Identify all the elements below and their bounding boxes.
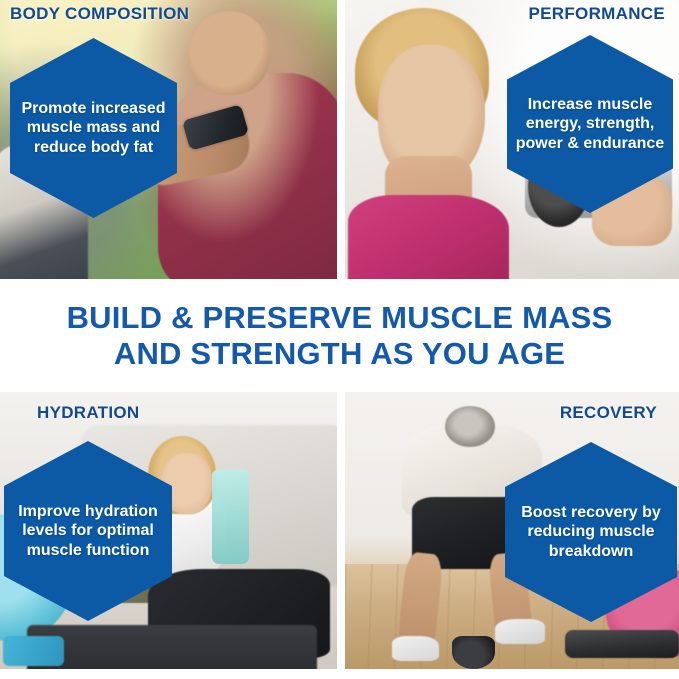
headline-line-1: BUILD & PRESERVE MUSCLE MASS bbox=[67, 300, 613, 335]
photo-decor-shoe-left bbox=[392, 636, 439, 661]
headline-line-2: AND STRENGTH AS YOU AGE bbox=[114, 336, 565, 371]
photo-decor-tank-top bbox=[348, 195, 508, 279]
photo-decor-dumbbells bbox=[3, 636, 64, 666]
photo-decor-water-bottle bbox=[212, 470, 249, 564]
panel-body-composition: BODY COMPOSITION Promote increased muscl… bbox=[0, 0, 337, 279]
hexagon-text-recovery: Boost recovery by reducing muscle breakd… bbox=[505, 503, 677, 562]
panel-label-hydration: HYDRATION bbox=[37, 403, 140, 423]
panel-label-body-composition: BODY COMPOSITION bbox=[10, 4, 189, 24]
panel-hydration: HYDRATION Improve hydration levels for o… bbox=[0, 392, 337, 669]
hexagon-text-hydration: Improve hydration levels for optimal mus… bbox=[4, 502, 172, 561]
photo-decor-kettlebell bbox=[452, 636, 495, 669]
infographic-root: BODY COMPOSITION Promote increased muscl… bbox=[0, 0, 679, 679]
headline-band: BUILD & PRESERVE MUSCLE MASS AND STRENGT… bbox=[0, 279, 679, 392]
photo-decor-barbell bbox=[565, 630, 679, 658]
hexagon-text-body-composition: Promote increased muscle mass and reduce… bbox=[10, 99, 177, 158]
panel-label-performance: PERFORMANCE bbox=[529, 4, 665, 24]
panel-label-recovery: RECOVERY bbox=[560, 403, 657, 423]
panel-performance: PERFORMANCE Increase muscle energy, stre… bbox=[345, 0, 679, 279]
hexagon-text-performance: Increase muscle energy, strength, power … bbox=[507, 95, 673, 154]
photo-decor-yoga-mat bbox=[27, 625, 317, 669]
panel-recovery: RECOVERY Boost recovery by reducing musc… bbox=[345, 392, 679, 669]
photo-decor-shoe-right bbox=[495, 619, 545, 644]
